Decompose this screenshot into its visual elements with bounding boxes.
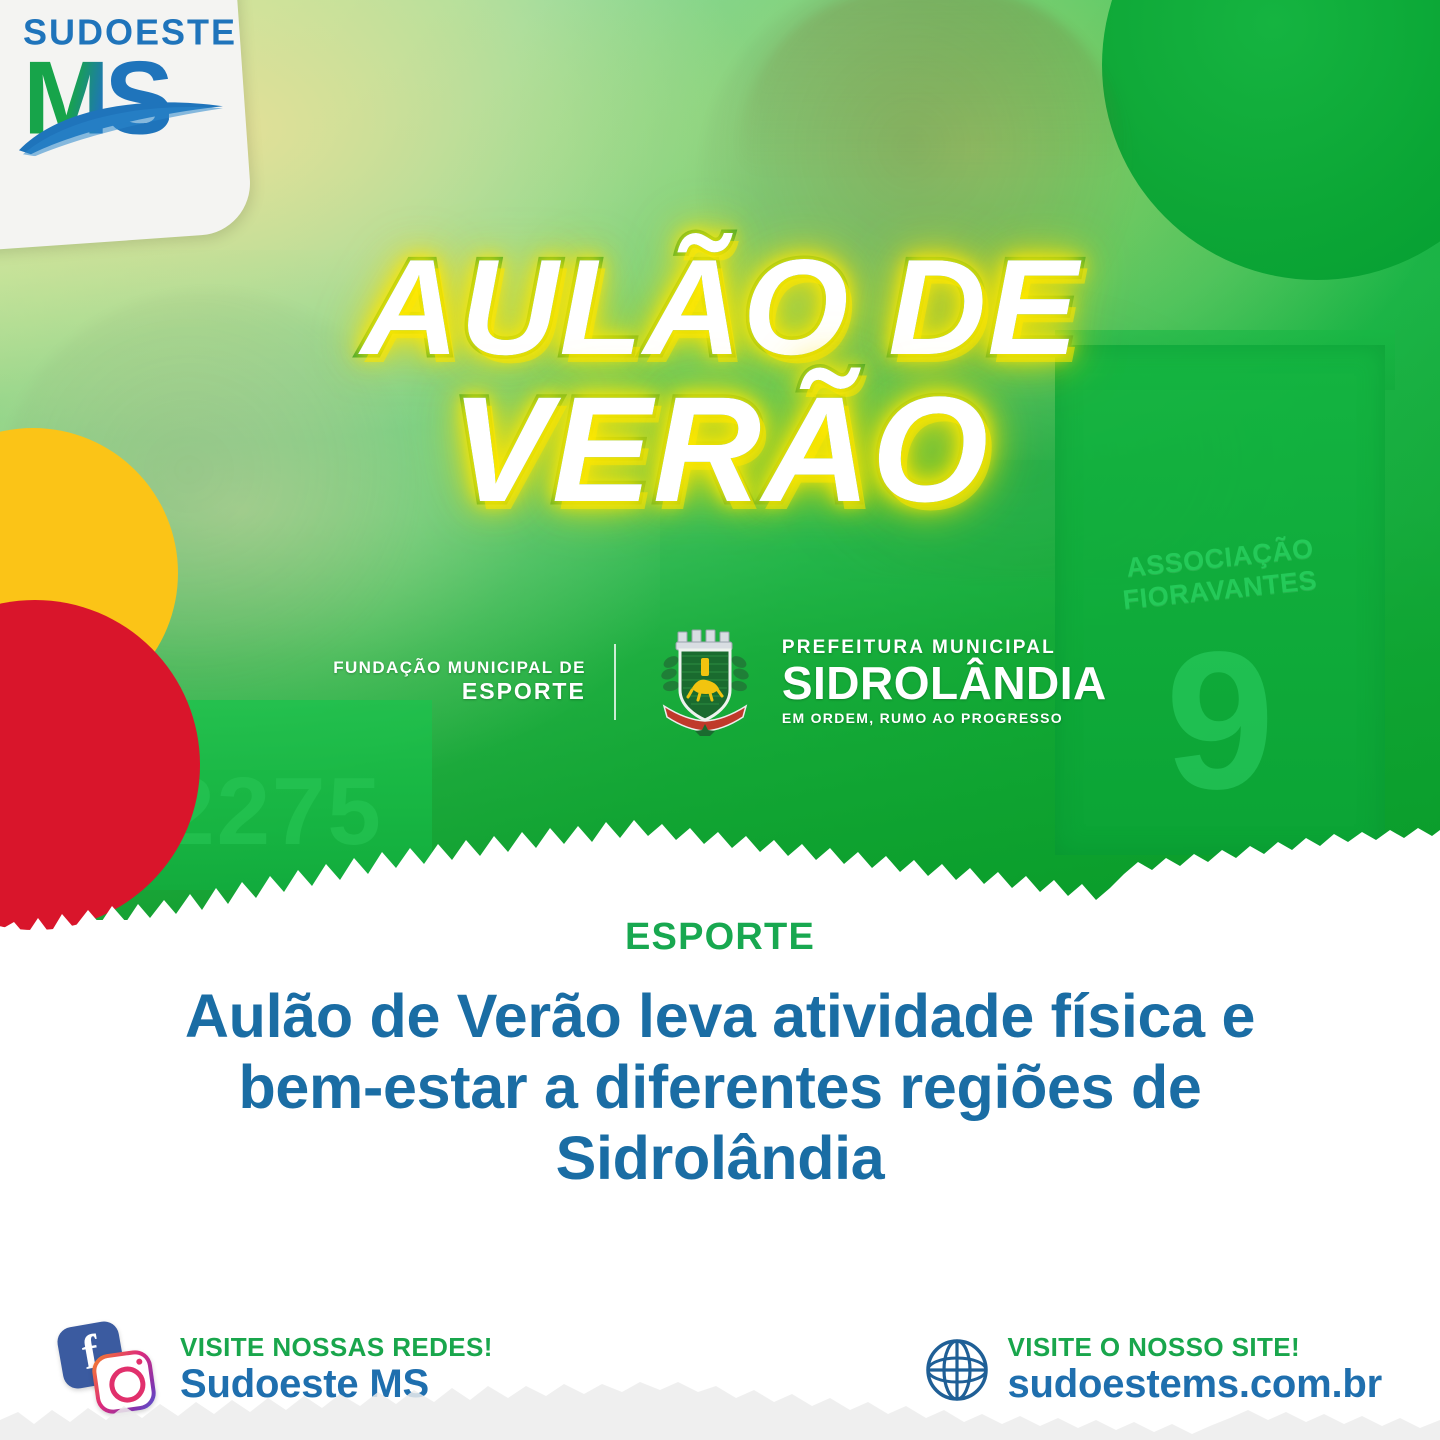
website-block[interactable]: VISITE O NOSSO SITE! sudoestems.com.br — [924, 1334, 1383, 1405]
city-hall-motto: EM ORDEM, RUMO AO PROGRESSO — [782, 711, 1107, 726]
article-content: ESPORTE Aulão de Verão leva atividade fí… — [0, 916, 1440, 1193]
background-photo-athlete-cap — [740, 0, 1120, 180]
website-url: sudoestems.com.br — [1008, 1362, 1383, 1406]
sidrolandia-coat-of-arms-icon — [654, 628, 756, 736]
article-headline: Aulão de Verão leva atividade física e b… — [110, 981, 1330, 1193]
article-kicker: ESPORTE — [110, 916, 1330, 959]
city-hall-logo: PREFEITURA MUNICIPAL SIDROLÂNDIA EM ORDE… — [756, 638, 1107, 726]
social-cta: VISITE NOSSAS REDES! — [180, 1334, 493, 1361]
social-icons: f — [58, 1324, 162, 1416]
logo-wordmark-ms: MS — [23, 46, 169, 150]
foundation-logo: FUNDAÇÃO MUNICIPAL DE ESPORTE — [333, 658, 614, 705]
foundation-line-2: ESPORTE — [333, 678, 586, 705]
institutional-logo-row: FUNDAÇÃO MUNICIPAL DE ESPORTE — [0, 628, 1440, 736]
sudoeste-ms-logo[interactable]: SUDOESTE MS — [0, 0, 253, 252]
social-media-block[interactable]: f VISITE NOSSAS REDES! Sudoeste MS — [58, 1324, 493, 1416]
social-text: VISITE NOSSAS REDES! Sudoeste MS — [180, 1334, 493, 1405]
footer: f VISITE NOSSAS REDES! Sudoeste MS — [0, 1324, 1440, 1416]
background-photo-jersey: ASSOCIAÇÃO FIORAVANTES 9 — [1055, 345, 1385, 855]
foundation-line-1: FUNDAÇÃO MUNICIPAL DE — [333, 658, 586, 678]
logo-divider — [614, 644, 616, 720]
logo-ms-wrapper: MS — [23, 46, 223, 156]
logo-inner: SUDOESTE MS — [23, 14, 223, 156]
website-text: VISITE O NOSSO SITE! sudoestems.com.br — [1008, 1334, 1383, 1405]
website-cta: VISITE O NOSSO SITE! — [1008, 1334, 1383, 1361]
globe-icon — [924, 1337, 990, 1403]
social-handle: Sudoeste MS — [180, 1362, 493, 1406]
city-hall-line-1: PREFEITURA MUNICIPAL — [782, 638, 1107, 659]
city-hall-name: SIDROLÂNDIA — [782, 659, 1107, 709]
social-media-post: ASSOCIAÇÃO FIORAVANTES 9 2275 SUDOESTE M… — [0, 0, 1440, 1440]
instagram-icon[interactable] — [90, 1348, 158, 1416]
